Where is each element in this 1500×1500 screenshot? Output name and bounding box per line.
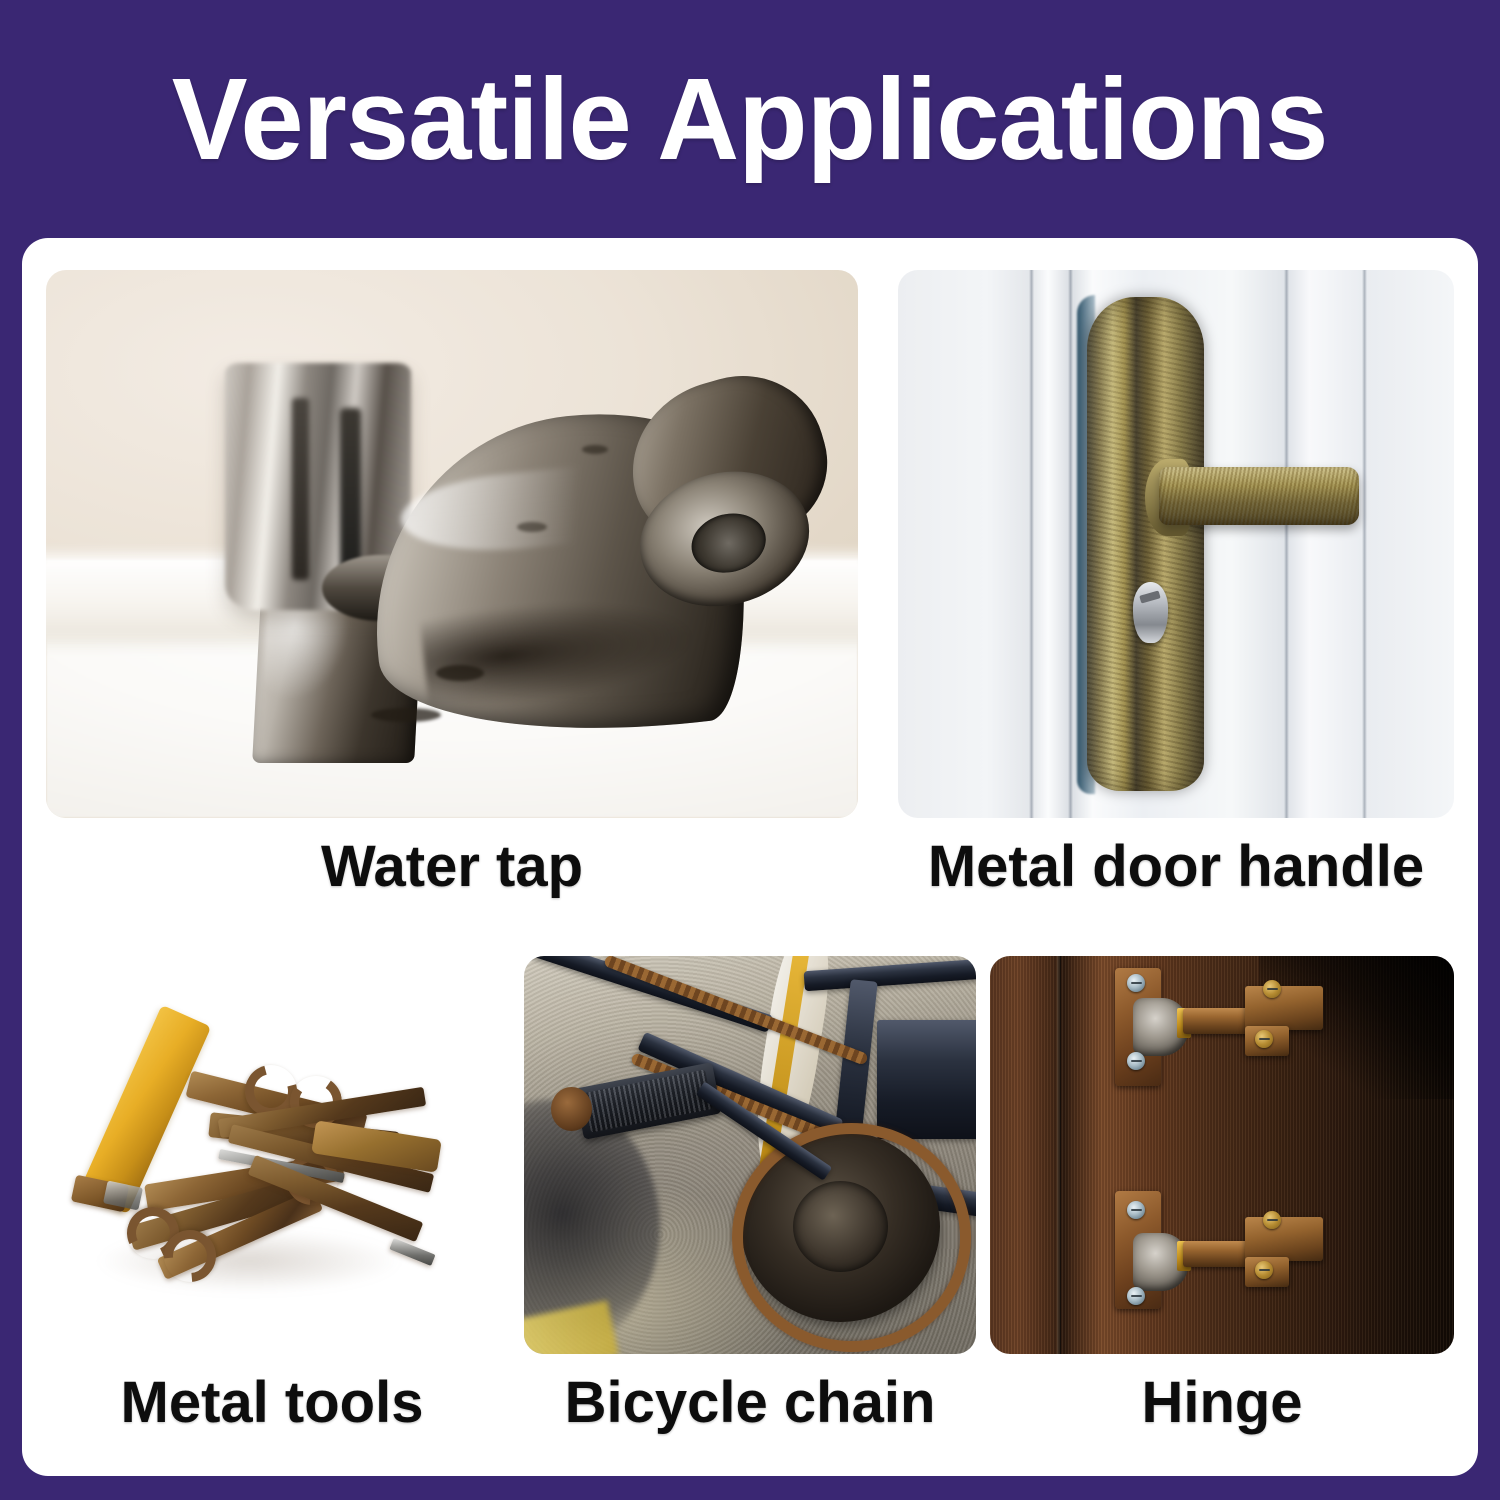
image-panel-bicycle-chain (524, 956, 976, 1354)
header-banner: Versatile Applications (0, 0, 1500, 238)
chain-loop (732, 1123, 971, 1352)
caption-bicycle-chain: Bicycle chain (524, 1374, 976, 1432)
hinge-screw (1127, 1201, 1145, 1219)
door-groove (1068, 270, 1073, 818)
door-groove (1029, 270, 1034, 818)
hinge-mounting-plate (1245, 986, 1323, 1030)
hinge-screw (1127, 1287, 1145, 1305)
caption-metal-door-handle: Metal door handle (898, 838, 1454, 896)
handle-lever (1159, 467, 1359, 525)
door-groove (1362, 270, 1367, 818)
hinge-mounting-plate (1245, 1217, 1323, 1261)
handle-backplate (1087, 297, 1204, 790)
keyhole-escutcheon (1133, 582, 1169, 642)
rust-stain (436, 665, 484, 681)
caption-water-tap: Water tap (46, 838, 858, 896)
image-panel-metal-door-handle (898, 270, 1454, 818)
image-panel-metal-tools (46, 968, 498, 1354)
infographic-page: Versatile Applications Water tap (0, 0, 1500, 1500)
content-card: Water tap Metal door handle (22, 238, 1478, 1476)
rust-stain (517, 522, 547, 532)
wood-door-seam (1057, 956, 1061, 1354)
page-title: Versatile Applications (172, 61, 1328, 177)
bicycle-rear-rack (877, 1020, 976, 1139)
door-groove (1284, 270, 1289, 818)
pedal-end-cap (551, 1087, 592, 1131)
hinge-screw (1263, 1211, 1281, 1229)
caption-hinge: Hinge (990, 1374, 1454, 1432)
hinge-screw (1255, 1261, 1273, 1279)
image-panel-hinge (990, 956, 1454, 1354)
caption-metal-tools: Metal tools (46, 1374, 498, 1432)
image-panel-water-tap (46, 270, 858, 818)
